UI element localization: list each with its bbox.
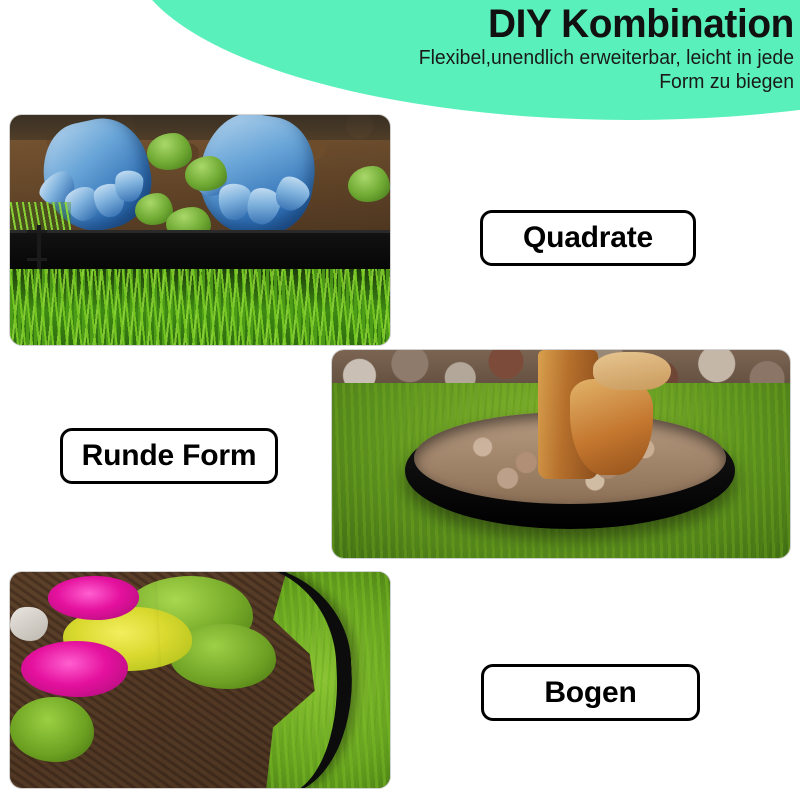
seedling-5 [348,166,390,203]
label-quadrate[interactable]: Quadrate [480,210,696,266]
lawn-foreground [10,269,390,345]
header-subtitle-line-2: Form zu biegen [251,70,794,94]
tree-root-flare [570,379,652,475]
label-quadrate-text: Quadrate [523,221,653,255]
label-bogen-text: Bogen [544,676,636,710]
label-runde-form[interactable]: Runde Form [60,428,278,484]
photo-planting-seedlings [10,115,390,345]
curved-black-edging [156,572,358,788]
header-text-block: DIY Kombination Flexibel,unendlich erwei… [234,2,794,94]
photo-ring-content [332,350,790,558]
photo-curved-edging [10,572,390,788]
seedling-2 [185,156,227,191]
edging-stake-bar-top [27,230,47,233]
photo-round-edging-ring [332,350,790,558]
header-banner: DIY Kombination Flexibel,unendlich erwei… [0,0,800,130]
label-bogen[interactable]: Bogen [481,664,700,721]
edging-stake-bar-mid [27,258,47,261]
edging-strip-highlight [10,230,390,233]
pink-flowers-upper [48,576,139,619]
header-subtitle-line-1: Flexibel,unendlich erweiterbar, leicht i… [251,46,794,70]
photo-planting-content [10,115,390,345]
label-runde-form-text: Runde Form [82,439,257,473]
tree-root-upper [593,352,671,389]
seedling-1 [147,133,193,170]
shrub-lower [10,697,94,762]
page-title: DIY Kombination [251,2,794,46]
pink-flowers-lower [21,641,127,697]
photo-curve-content [10,572,390,788]
decorative-stone [10,607,48,642]
